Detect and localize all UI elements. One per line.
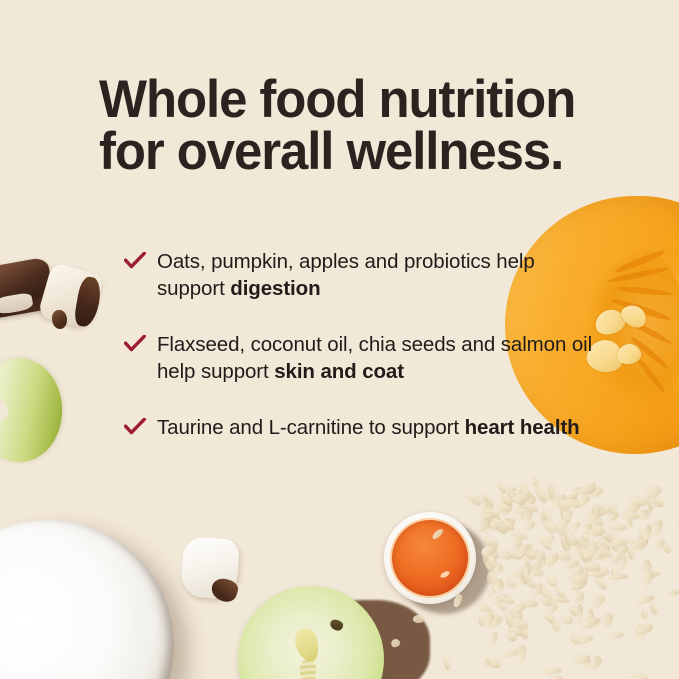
benefit-item: Taurine and L-carnitine to support heart… [124, 414, 594, 441]
benefits-list: Oats, pumpkin, apples and probiotics hel… [124, 248, 594, 441]
benefit-emphasis: skin and coat [274, 360, 404, 383]
benefit-emphasis: digestion [230, 277, 320, 300]
headline-line-1: Whole food nutrition [99, 74, 579, 126]
check-icon [124, 418, 146, 436]
headline-line-2: for overall wellness. [99, 126, 579, 178]
benefit-text: Taurine and L-carnitine to support heart… [157, 414, 594, 441]
benefit-emphasis: heart health [465, 416, 580, 439]
page-title: Whole food nutrition for overall wellnes… [99, 74, 579, 179]
promo-image: Whole food nutrition for overall wellnes… [0, 0, 679, 679]
check-icon [124, 335, 146, 353]
benefit-item: Oats, pumpkin, apples and probiotics hel… [124, 248, 594, 303]
benefit-text: Flaxseed, coconut oil, chia seeds and sa… [157, 331, 594, 386]
benefit-item: Flaxseed, coconut oil, chia seeds and sa… [124, 331, 594, 386]
text-content: Whole food nutrition for overall wellnes… [0, 0, 679, 679]
benefit-text: Oats, pumpkin, apples and probiotics hel… [157, 248, 594, 303]
check-icon [124, 252, 146, 270]
